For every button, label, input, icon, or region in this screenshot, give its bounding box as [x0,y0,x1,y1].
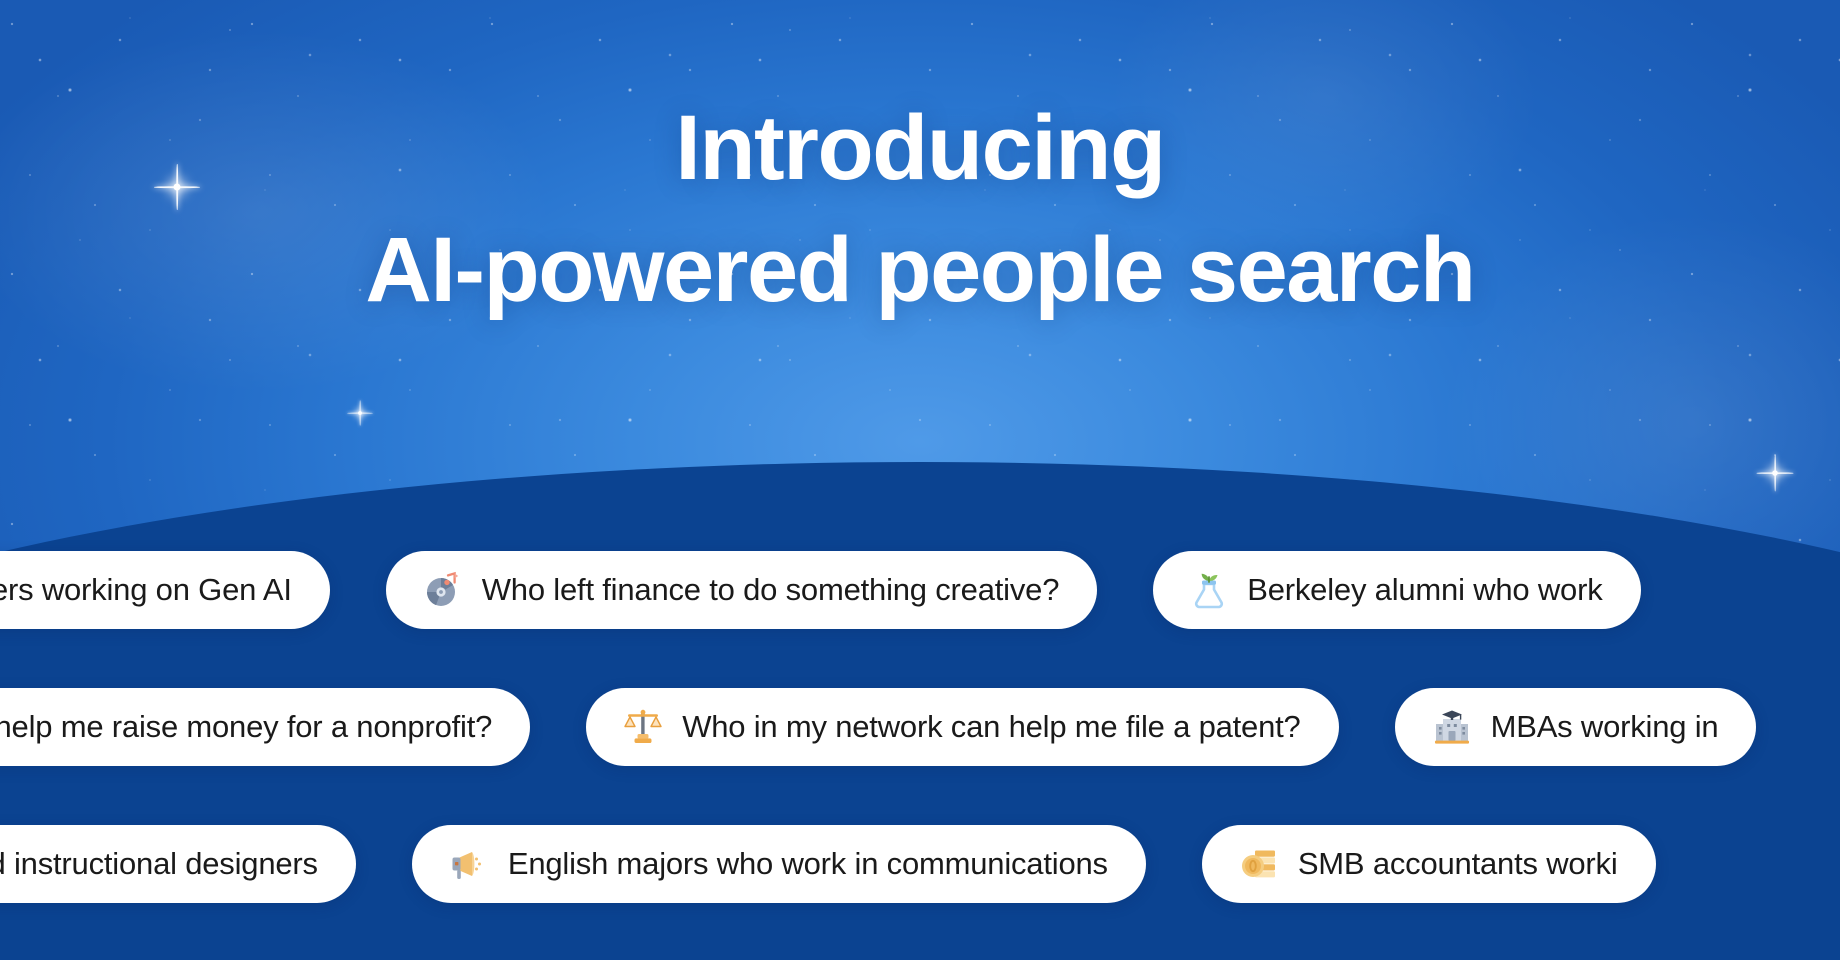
page-title-line-2: AI-powered people search [0,218,1840,324]
suggestion-row-1: uct Managers working on Gen AI Who [0,551,1641,629]
suggestion-pill-label: English majors who work in communication… [508,846,1108,882]
page-title-line-1: Introducing [0,96,1840,202]
suggestion-pill[interactable]: Berkeley alumni who work [1153,551,1640,629]
suggestion-row-3: ers turned instructional designers [0,825,1656,903]
star-sparkle-icon [357,410,363,416]
suggestion-pill[interactable]: Who in my network can help me file a pat… [586,688,1338,766]
megaphone-icon [450,845,488,883]
suggestion-pill[interactable]: Who left finance to do something creativ… [386,551,1097,629]
suggestion-pill-label: Who left finance to do something creativ… [482,572,1059,608]
suggestion-pill-label: Who in my network can help me file a pat… [682,709,1300,745]
suggestion-row-2: an help me raise money for a nonprofit? … [0,688,1756,766]
suggestion-pill-label: uct Managers working on Gen AI [0,572,292,608]
suggestion-pill-label: ers turned instructional designers [0,846,318,882]
coin-stack-icon [1240,845,1278,883]
page-title: Introducing AI-powered people search [0,96,1840,324]
suggestion-pill[interactable]: ers turned instructional designers [0,825,356,903]
suggestion-pill[interactable]: English majors who work in communication… [412,825,1146,903]
suggestion-pill-label: Berkeley alumni who work [1247,572,1602,608]
suggestion-pill-label: SMB accountants worki [1298,846,1618,882]
suggestion-pill[interactable]: an help me raise money for a nonprofit? [0,688,530,766]
suggestion-pill-label: an help me raise money for a nonprofit? [0,709,492,745]
suggestion-pill-label: MBAs working in [1491,709,1719,745]
graduation-building-icon [1433,708,1471,746]
music-disc-icon [424,571,462,609]
star-sparkle-icon [1771,469,1779,477]
suggestion-pill[interactable]: MBAs working in [1395,688,1757,766]
suggestion-pill[interactable]: SMB accountants worki [1202,825,1656,903]
hero-banner: Introducing AI-powered people search uct… [0,0,1840,960]
seedling-flask-icon [1191,571,1227,609]
balance-scale-icon [624,708,662,746]
suggestion-pill[interactable]: uct Managers working on Gen AI [0,551,330,629]
